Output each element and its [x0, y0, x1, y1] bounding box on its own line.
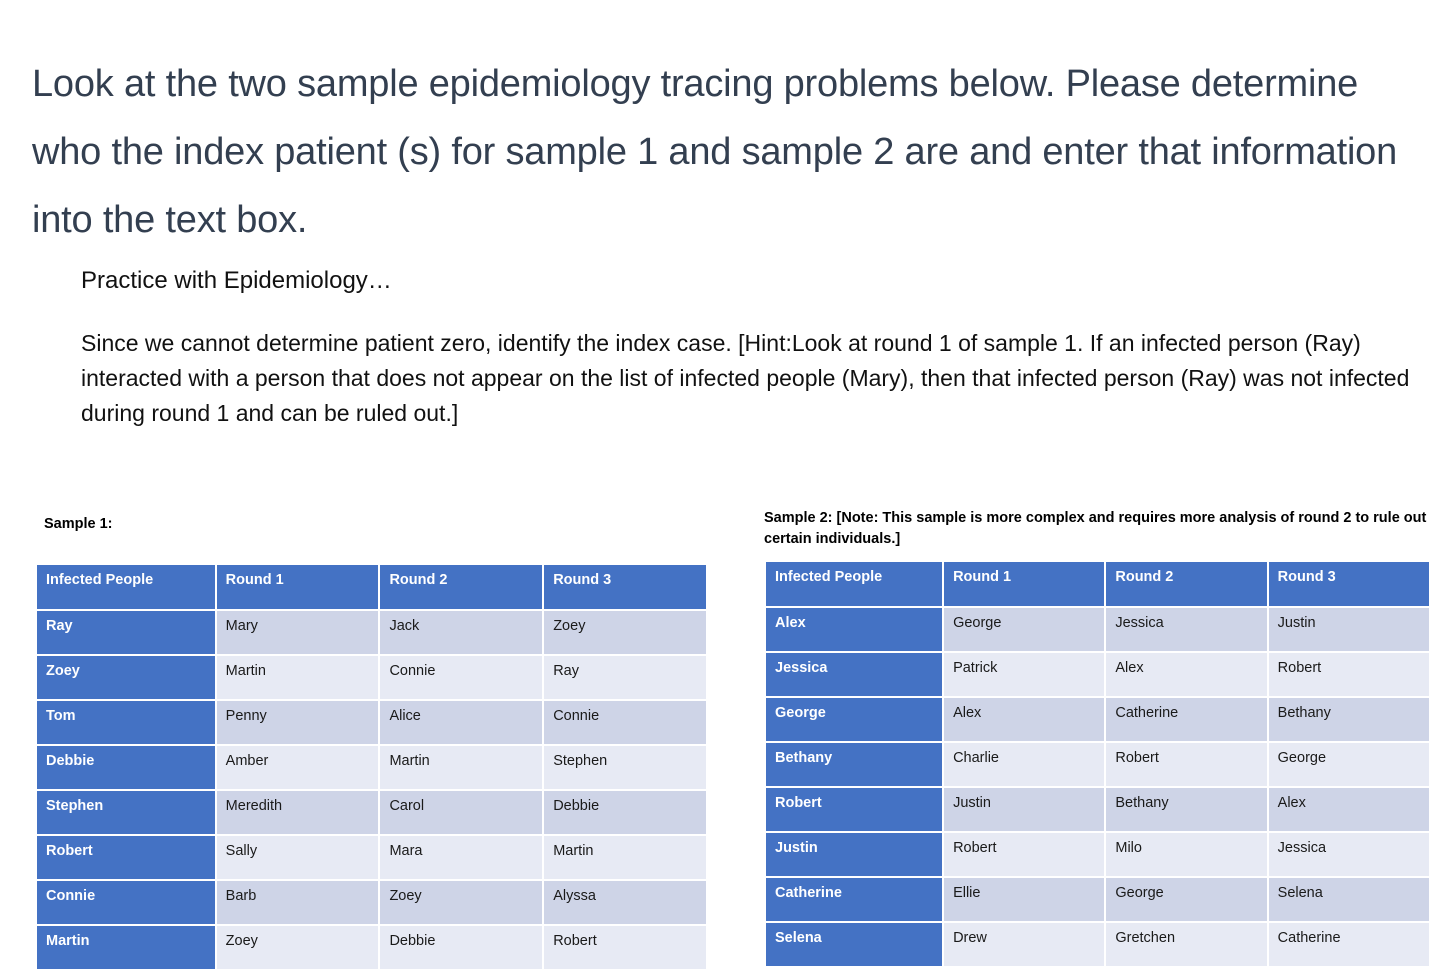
cell-round-1: Mary — [217, 611, 379, 654]
cell-round-1: Charlie — [944, 743, 1104, 786]
sample-1-table: Infected People Round 1 Round 2 Round 3 … — [35, 563, 708, 971]
cell-round-2: Zoey — [380, 881, 542, 924]
cell-round-1: Amber — [217, 746, 379, 789]
column-header-infected-people: Infected People — [37, 565, 215, 609]
table-row: Selena Drew Gretchen Catherine — [766, 923, 1429, 966]
cell-round-1: Justin — [944, 788, 1104, 831]
row-label-infected-person: Zoey — [37, 656, 215, 699]
cell-round-1: Sally — [217, 836, 379, 879]
cell-round-1: Drew — [944, 923, 1104, 966]
table-row: Connie Barb Zoey Alyssa — [37, 881, 706, 924]
cell-round-1: Alex — [944, 698, 1104, 741]
cell-round-2: Milo — [1106, 833, 1266, 876]
cell-round-3: Jessica — [1269, 833, 1429, 876]
body-text-block: Practice with Epidemiology… Since we can… — [81, 266, 1411, 431]
column-header-round-1: Round 1 — [217, 565, 379, 609]
cell-round-3: Selena — [1269, 878, 1429, 921]
table-row: Jessica Patrick Alex Robert — [766, 653, 1429, 696]
table-header-row: Infected People Round 1 Round 2 Round 3 — [766, 562, 1429, 606]
cell-round-3: Martin — [544, 836, 706, 879]
table-row: Stephen Meredith Carol Debbie — [37, 791, 706, 834]
row-label-infected-person: Tom — [37, 701, 215, 744]
table-row: Tom Penny Alice Connie — [37, 701, 706, 744]
row-label-infected-person: Robert — [766, 788, 942, 831]
column-header-round-2: Round 2 — [380, 565, 542, 609]
cell-round-3: Zoey — [544, 611, 706, 654]
cell-round-3: Alex — [1269, 788, 1429, 831]
cell-round-2: Gretchen — [1106, 923, 1266, 966]
table-header-row: Infected People Round 1 Round 2 Round 3 — [37, 565, 706, 609]
practice-lead-text: Practice with Epidemiology… — [81, 266, 1411, 296]
table-row: Bethany Charlie Robert George — [766, 743, 1429, 786]
cell-round-1: Ellie — [944, 878, 1104, 921]
cell-round-3: Connie — [544, 701, 706, 744]
cell-round-2: Mara — [380, 836, 542, 879]
sample-2-section: Sample 2: [Note: This sample is more com… — [764, 508, 1431, 968]
cell-round-1: Penny — [217, 701, 379, 744]
cell-round-2: Robert — [1106, 743, 1266, 786]
cell-round-2: Debbie — [380, 926, 542, 969]
cell-round-3: Justin — [1269, 608, 1429, 651]
table-row: Robert Sally Mara Martin — [37, 836, 706, 879]
cell-round-1: Patrick — [944, 653, 1104, 696]
cell-round-2: Catherine — [1106, 698, 1266, 741]
row-label-infected-person: Bethany — [766, 743, 942, 786]
cell-round-2: Bethany — [1106, 788, 1266, 831]
cell-round-3: Alyssa — [544, 881, 706, 924]
cell-round-2: Martin — [380, 746, 542, 789]
cell-round-3: Robert — [1269, 653, 1429, 696]
cell-round-1: George — [944, 608, 1104, 651]
table-row: Robert Justin Bethany Alex — [766, 788, 1429, 831]
instruction-paragraph: Since we cannot determine patient zero, … — [81, 326, 1411, 431]
table-row: Justin Robert Milo Jessica — [766, 833, 1429, 876]
slide-title: Look at the two sample epidemiology trac… — [32, 51, 1422, 254]
sample-2-caption: Sample 2: [Note: This sample is more com… — [764, 508, 1431, 549]
table-row: George Alex Catherine Bethany — [766, 698, 1429, 741]
sample-1-caption: Sample 1: — [44, 514, 708, 535]
cell-round-3: George — [1269, 743, 1429, 786]
table-row: Zoey Martin Connie Ray — [37, 656, 706, 699]
row-label-infected-person: George — [766, 698, 942, 741]
table-row: Alex George Jessica Justin — [766, 608, 1429, 651]
column-header-infected-people: Infected People — [766, 562, 942, 606]
cell-round-1: Martin — [217, 656, 379, 699]
cell-round-2: Jessica — [1106, 608, 1266, 651]
cell-round-3: Ray — [544, 656, 706, 699]
column-header-round-3: Round 3 — [544, 565, 706, 609]
row-label-infected-person: Selena — [766, 923, 942, 966]
cell-round-2: Alex — [1106, 653, 1266, 696]
cell-round-2: Jack — [380, 611, 542, 654]
cell-round-2: George — [1106, 878, 1266, 921]
sample-1-section: Sample 1: Infected People Round 1 Round … — [35, 514, 708, 971]
cell-round-3: Bethany — [1269, 698, 1429, 741]
row-label-infected-person: Martin — [37, 926, 215, 969]
row-label-infected-person: Ray — [37, 611, 215, 654]
row-label-infected-person: Debbie — [37, 746, 215, 789]
cell-round-3: Catherine — [1269, 923, 1429, 966]
row-label-infected-person: Robert — [37, 836, 215, 879]
cell-round-3: Stephen — [544, 746, 706, 789]
table-row: Catherine Ellie George Selena — [766, 878, 1429, 921]
row-label-infected-person: Catherine — [766, 878, 942, 921]
row-label-infected-person: Alex — [766, 608, 942, 651]
table-row: Debbie Amber Martin Stephen — [37, 746, 706, 789]
cell-round-1: Meredith — [217, 791, 379, 834]
cell-round-2: Connie — [380, 656, 542, 699]
column-header-round-3: Round 3 — [1269, 562, 1429, 606]
cell-round-2: Carol — [380, 791, 542, 834]
column-header-round-1: Round 1 — [944, 562, 1104, 606]
cell-round-3: Debbie — [544, 791, 706, 834]
sample-2-table: Infected People Round 1 Round 2 Round 3 … — [764, 560, 1431, 968]
row-label-infected-person: Stephen — [37, 791, 215, 834]
row-label-infected-person: Justin — [766, 833, 942, 876]
row-label-infected-person: Connie — [37, 881, 215, 924]
cell-round-3: Robert — [544, 926, 706, 969]
column-header-round-2: Round 2 — [1106, 562, 1266, 606]
row-label-infected-person: Jessica — [766, 653, 942, 696]
cell-round-1: Zoey — [217, 926, 379, 969]
cell-round-2: Alice — [380, 701, 542, 744]
cell-round-1: Barb — [217, 881, 379, 924]
cell-round-1: Robert — [944, 833, 1104, 876]
table-row: Ray Mary Jack Zoey — [37, 611, 706, 654]
table-row: Martin Zoey Debbie Robert — [37, 926, 706, 969]
